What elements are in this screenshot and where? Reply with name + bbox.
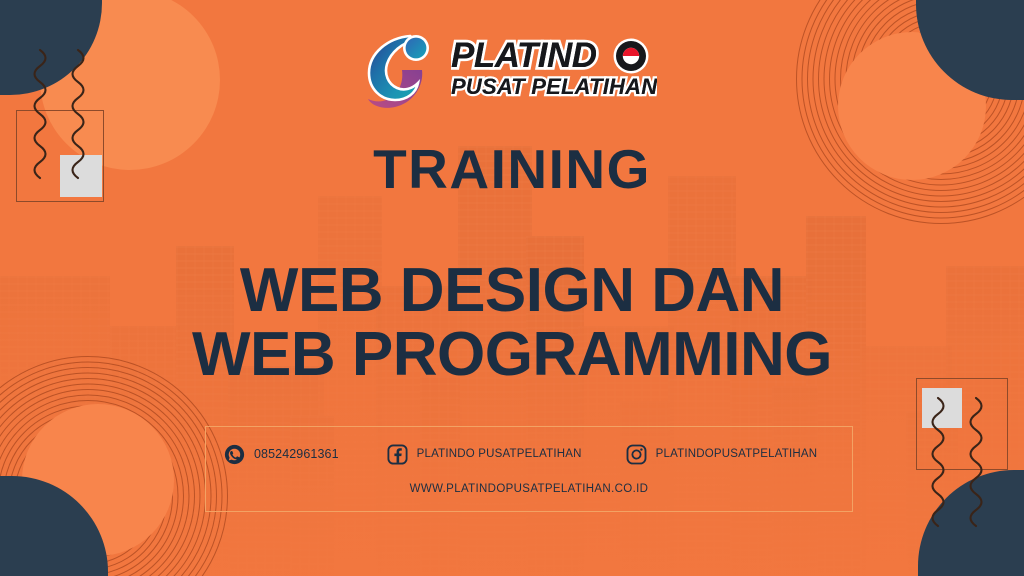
brand-logo: PLATIND PLATIND PUSAT PELATIHAN PUSAT PE… xyxy=(0,26,1024,110)
platindo-swoosh-logo-icon xyxy=(366,26,438,110)
contact-whatsapp[interactable]: 085242961361 xyxy=(224,444,339,465)
contact-facebook-label: PLATINDO PUSATPELATIHAN xyxy=(417,448,582,460)
kicker-training: TRAINING xyxy=(0,142,1024,197)
brand-wordmark: PLATIND PLATIND PUSAT PELATIHAN PUSAT PE… xyxy=(451,36,659,100)
brand-tagline-text: PUSAT PELATIHAN PUSAT PELATIHAN xyxy=(451,74,657,100)
contact-whatsapp-label: 085242961361 xyxy=(254,447,339,461)
contact-bar: 085242961361 PLATINDO PUSATPELATIHAN xyxy=(205,426,853,512)
brand-name-text: PLATIND PLATIND xyxy=(451,36,659,76)
headline: WEB DESIGN DAN WEB PROGRAMMING xyxy=(0,259,1024,387)
poster-canvas: PLATIND PLATIND PUSAT PELATIHAN PUSAT PE… xyxy=(0,0,1024,576)
contact-facebook[interactable]: PLATINDO PUSATPELATIHAN xyxy=(387,444,582,465)
whatsapp-icon xyxy=(224,444,245,465)
zigzag-lines-bottom-right xyxy=(926,396,996,528)
contact-instagram[interactable]: PLATINDOPUSATPELATIHAN xyxy=(626,444,818,465)
contact-row: 085242961361 PLATINDO PUSATPELATIHAN xyxy=(206,444,852,465)
contact-instagram-label: PLATINDOPUSATPELATIHAN xyxy=(656,448,818,460)
headline-line-1: WEB DESIGN DAN xyxy=(0,259,1024,323)
svg-text:PLATIND: PLATIND xyxy=(451,36,597,75)
facebook-icon xyxy=(387,444,408,465)
svg-text:PUSAT PELATIHAN: PUSAT PELATIHAN xyxy=(451,74,657,99)
instagram-icon xyxy=(626,444,647,465)
headline-line-2: WEB PROGRAMMING xyxy=(0,323,1024,387)
contact-website[interactable]: WWW.PLATINDOPUSATPELATIHAN.CO.ID xyxy=(206,483,852,495)
title-block: TRAINING WEB DESIGN DAN WEB PROGRAMMING xyxy=(0,142,1024,387)
